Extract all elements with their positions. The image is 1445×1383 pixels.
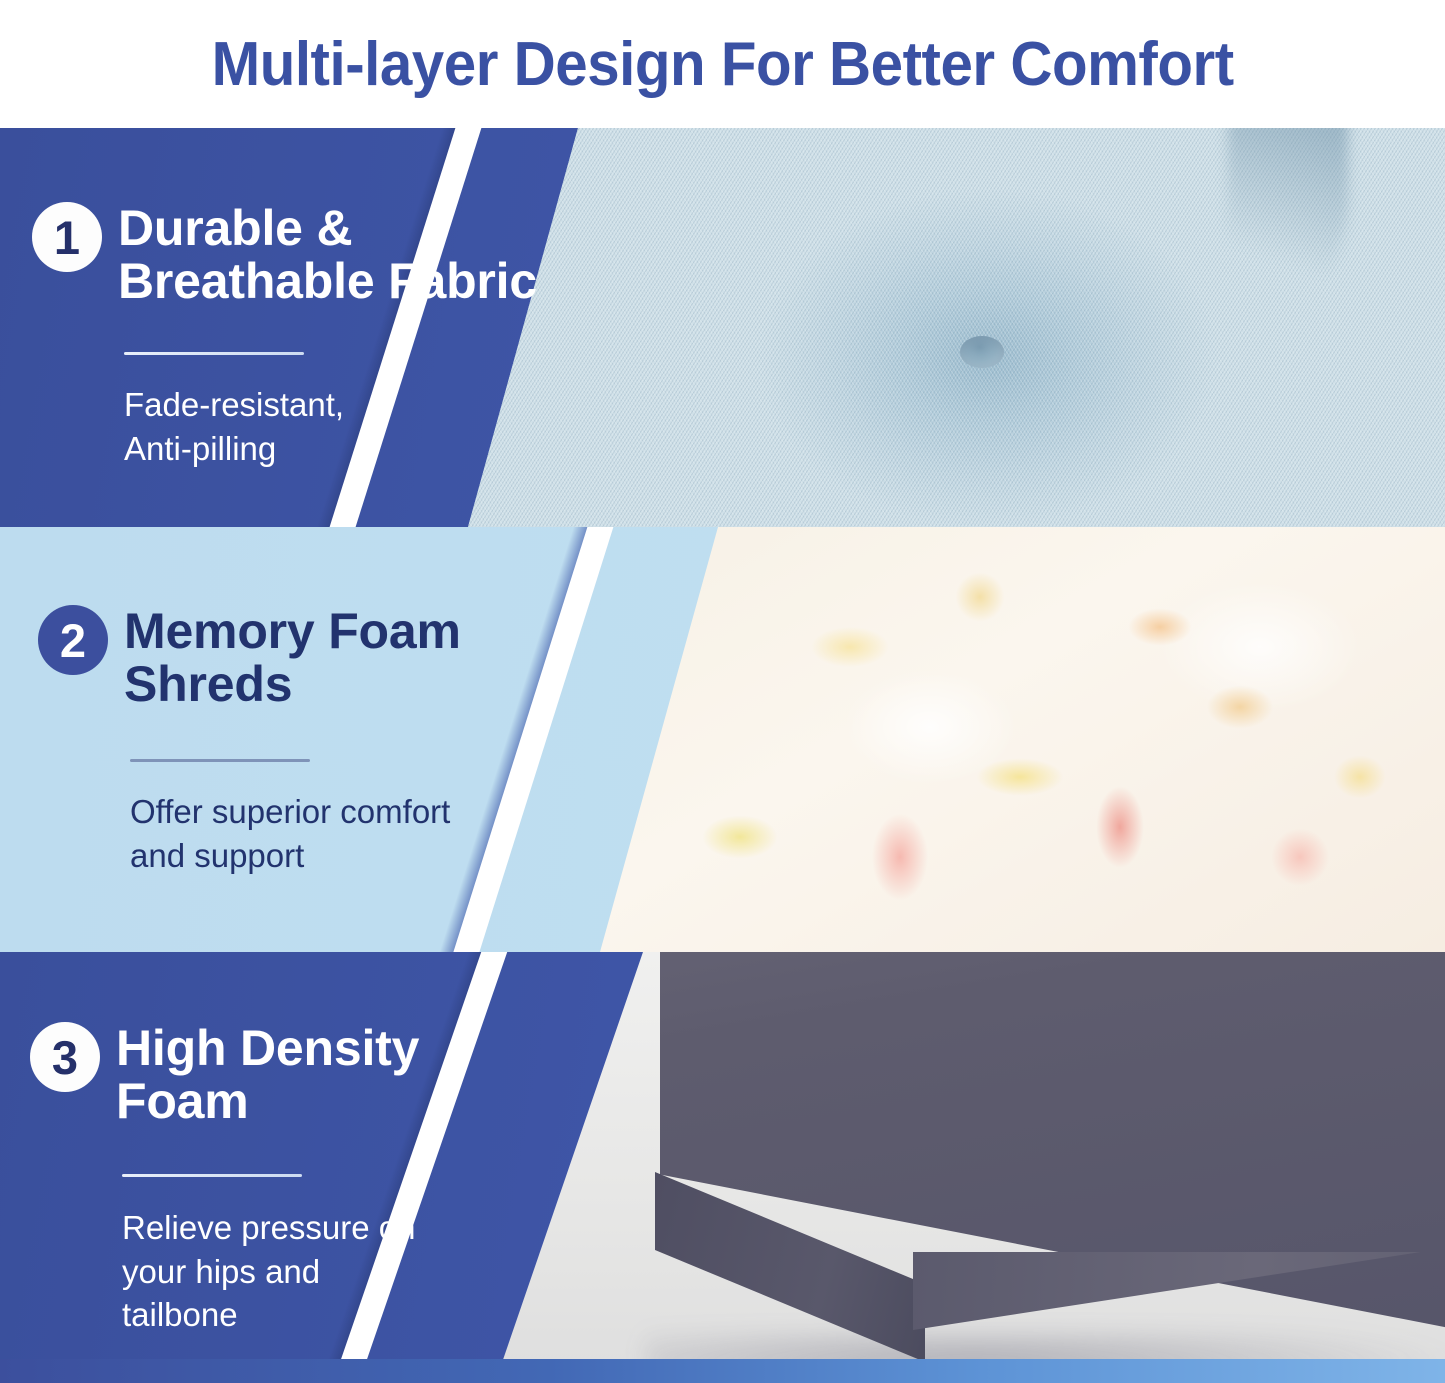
fabric-fold <box>1228 128 1348 308</box>
step-number-badge-3: 3 <box>30 1022 100 1092</box>
feature-panel-3: 3 High Density Foam Relieve pressure on … <box>0 952 1445 1383</box>
panel-1-content: 1 Durable & Breathable Fabric Fade-resis… <box>0 128 620 527</box>
infographic-page: Multi-layer Design For Better Comfort 1 … <box>0 0 1445 1383</box>
panel-1-body: Fade-resistant, Anti-pilling <box>124 383 554 470</box>
high-density-foam-photo <box>495 952 1445 1383</box>
panel-2-content: 2 Memory Foam Shreds Offer superior comf… <box>0 527 620 952</box>
header-bar: Multi-layer Design For Better Comfort <box>0 0 1445 128</box>
panel-1-heading-row: 1 Durable & Breathable Fabric <box>32 202 537 308</box>
panel-2-divider <box>130 759 310 762</box>
feature-panel-1: 1 Durable & Breathable Fabric Fade-resis… <box>0 128 1445 527</box>
panel-1-divider <box>124 352 304 355</box>
feature-panel-2: 2 Memory Foam Shreds Offer superior comf… <box>0 527 1445 952</box>
panel-2-heading-row: 2 Memory Foam Shreds <box>38 605 461 711</box>
foam-shreds-photo <box>600 527 1445 952</box>
step-number-badge-1: 1 <box>32 202 102 272</box>
panel-3-divider <box>122 1174 302 1177</box>
page-title: Multi-layer Design For Better Comfort <box>211 29 1233 100</box>
panel-3-body: Relieve pressure on your hips and tailbo… <box>122 1206 552 1337</box>
panel-2-body: Offer superior comfort and support <box>130 790 600 877</box>
panel-3-heading: High Density Foam <box>116 1022 419 1128</box>
panel-3-heading-row: 3 High Density Foam <box>30 1022 419 1128</box>
panel-1-heading: Durable & Breathable Fabric <box>118 202 537 308</box>
fabric-tuft-button <box>960 336 1004 368</box>
panel-2-heading: Memory Foam Shreds <box>124 605 461 711</box>
step-number-badge-2: 2 <box>38 605 108 675</box>
panel-3-content: 3 High Density Foam Relieve pressure on … <box>0 952 620 1383</box>
bottom-accent-strip <box>0 1359 1445 1383</box>
